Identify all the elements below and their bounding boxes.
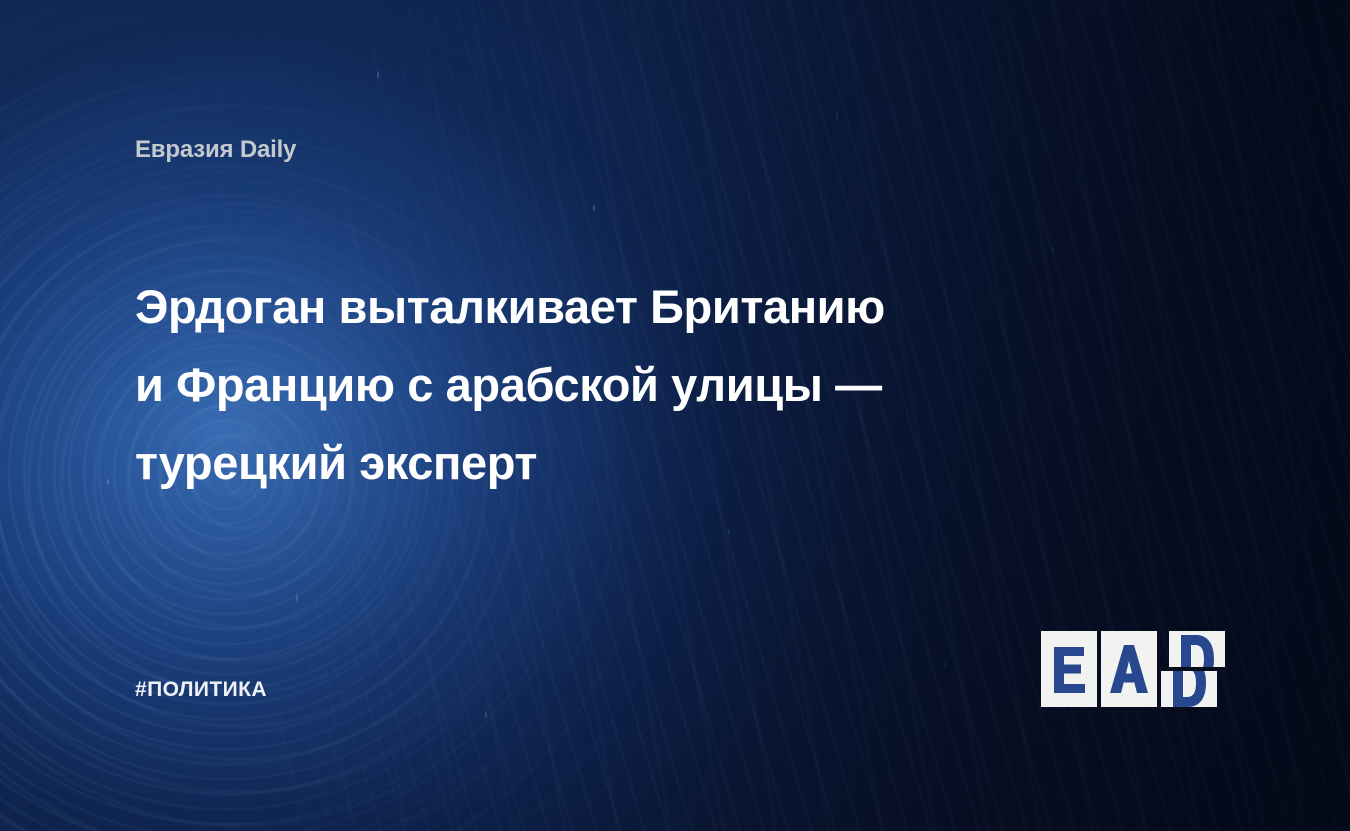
- letter-a-tile: [1101, 631, 1157, 707]
- eadaily-logo: [1041, 631, 1225, 707]
- letter-d-lower-half: [1161, 671, 1217, 707]
- letter-d-upper-half: [1169, 631, 1225, 667]
- article-social-card: Евразия Daily Эрдоган выталкивает Британ…: [0, 0, 1350, 831]
- headline-line-1: Эрдоган выталкивает Британию: [135, 268, 1065, 346]
- letter-d-split-tile: [1161, 631, 1225, 707]
- page-title: Эрдоган выталкивает Британию и Францию с…: [135, 268, 1065, 502]
- headline-line-2: и Францию с арабской улицы —: [135, 346, 1065, 424]
- card-content: Евразия Daily Эрдоган выталкивает Британ…: [0, 0, 1350, 831]
- headline-line-3: турецкий эксперт: [135, 424, 1065, 502]
- brand-wordmark: Евразия Daily: [135, 136, 296, 164]
- category-hashtag[interactable]: #ПОЛИТИКА: [135, 678, 267, 702]
- letter-e-tile: [1041, 631, 1097, 707]
